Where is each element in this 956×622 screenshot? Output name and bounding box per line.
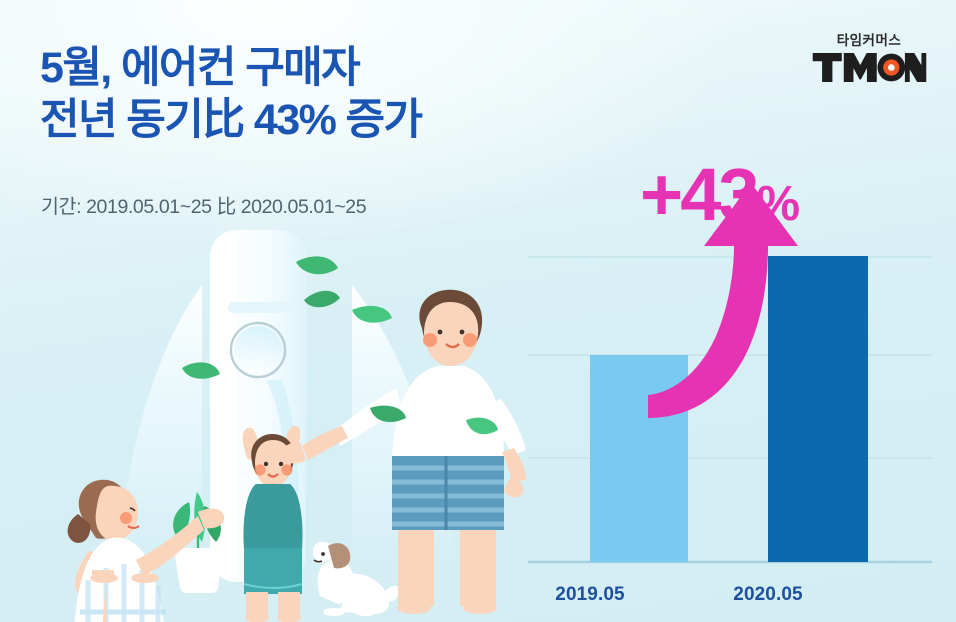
logo-korean-label: 타임커머스 bbox=[810, 34, 928, 48]
growth-sign: + bbox=[640, 153, 680, 236]
headline-line-2: 전년 동기比 43% 증가 bbox=[40, 94, 421, 146]
period-subtitle: 기간: 2019.05.01~25 比 2020.05.01~25 bbox=[41, 190, 366, 219]
x-axis-label-2020: 2020.05 bbox=[703, 584, 833, 606]
illustration-family-air-conditioner bbox=[52, 230, 552, 622]
infographic-canvas: 5월, 에어컨 구매자 전년 동기比 43% 증가 기간: 2019.05.01… bbox=[0, 0, 956, 622]
bar-2020 bbox=[768, 256, 868, 562]
growth-annotation: +43% bbox=[640, 158, 798, 232]
x-axis-label-2019: 2019.05 bbox=[525, 584, 655, 606]
growth-percent-sign: % bbox=[757, 177, 799, 231]
page-title: 5월, 에어컨 구매자 전년 동기比 43% 증가 bbox=[40, 42, 421, 147]
growth-number: 43 bbox=[680, 153, 756, 236]
man-figure bbox=[282, 290, 526, 614]
bar-2019 bbox=[590, 355, 688, 562]
brand-logo: 타임커머스 bbox=[810, 34, 928, 84]
bar-chart: +43% 2019.05 2020.05 bbox=[520, 150, 940, 620]
headline-line-1: 5월, 에어컨 구매자 bbox=[40, 44, 359, 92]
tmon-wordmark-icon bbox=[810, 51, 928, 84]
